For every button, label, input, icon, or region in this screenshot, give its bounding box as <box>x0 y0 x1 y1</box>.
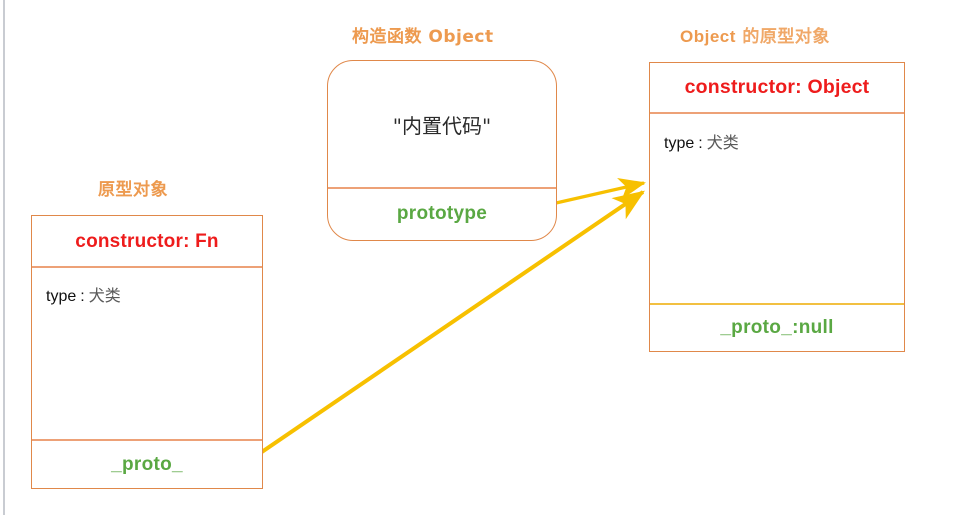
title-fn-prototype-text: 原型对象 <box>98 180 168 200</box>
diagram-canvas: 原型对象 constructor: Fn type:犬类 _proto_ 构造函… <box>0 0 960 515</box>
title-object-constructor-text: 构造函数 Object <box>352 27 494 47</box>
row-constructor-object: constructor: Object <box>650 63 904 112</box>
type-object-entry: type:犬类 <box>664 129 739 153</box>
constructor-object-label: constructor: Object <box>685 76 870 99</box>
row-type-object: type:犬类 <box>650 113 904 169</box>
row-prototype[interactable]: prototype <box>328 188 556 240</box>
prototype-label: prototype <box>397 203 487 225</box>
title-object-constructor: 构造函数 Object <box>352 22 494 47</box>
type-object-sep: : <box>694 135 706 152</box>
page-edge-rule <box>3 0 5 515</box>
box-fn-prototype[interactable]: constructor: Fn type:犬类 _proto_ <box>31 215 263 489</box>
type-object-value: 犬类 <box>707 133 739 152</box>
type-object-key: type <box>664 135 694 152</box>
row-constructor-fn: constructor: Fn <box>32 216 262 267</box>
title-fn-prototype: 原型对象 <box>98 175 168 200</box>
constructor-fn-label: constructor: Fn <box>75 231 218 253</box>
proto-object-label: _proto_:null <box>720 317 833 339</box>
title-object-prototype-suffix: 的原型对象 <box>736 27 830 47</box>
row-proto-object[interactable]: _proto_:null <box>650 304 904 351</box>
row-builtin-code: "内置代码" <box>328 61 556 187</box>
type-fn-sep: : <box>76 288 88 305</box>
row-type-fn: type:犬类 <box>32 267 262 321</box>
builtin-code-label: "内置代码" <box>393 110 491 139</box>
box-object-prototype[interactable]: constructor: Object type:犬类 _proto_:null <box>649 62 905 352</box>
box-object-constructor[interactable]: "内置代码" prototype <box>327 60 557 241</box>
title-object-prototype: Object 的原型对象 <box>680 22 830 47</box>
type-fn-value: 犬类 <box>89 286 121 305</box>
row-proto-fn[interactable]: _proto_ <box>32 440 262 489</box>
proto-fn-label: _proto_ <box>111 454 183 476</box>
type-fn-key: type <box>46 288 76 305</box>
title-object-prototype-prefix: Object <box>680 27 736 46</box>
type-fn-entry: type:犬类 <box>46 282 121 306</box>
